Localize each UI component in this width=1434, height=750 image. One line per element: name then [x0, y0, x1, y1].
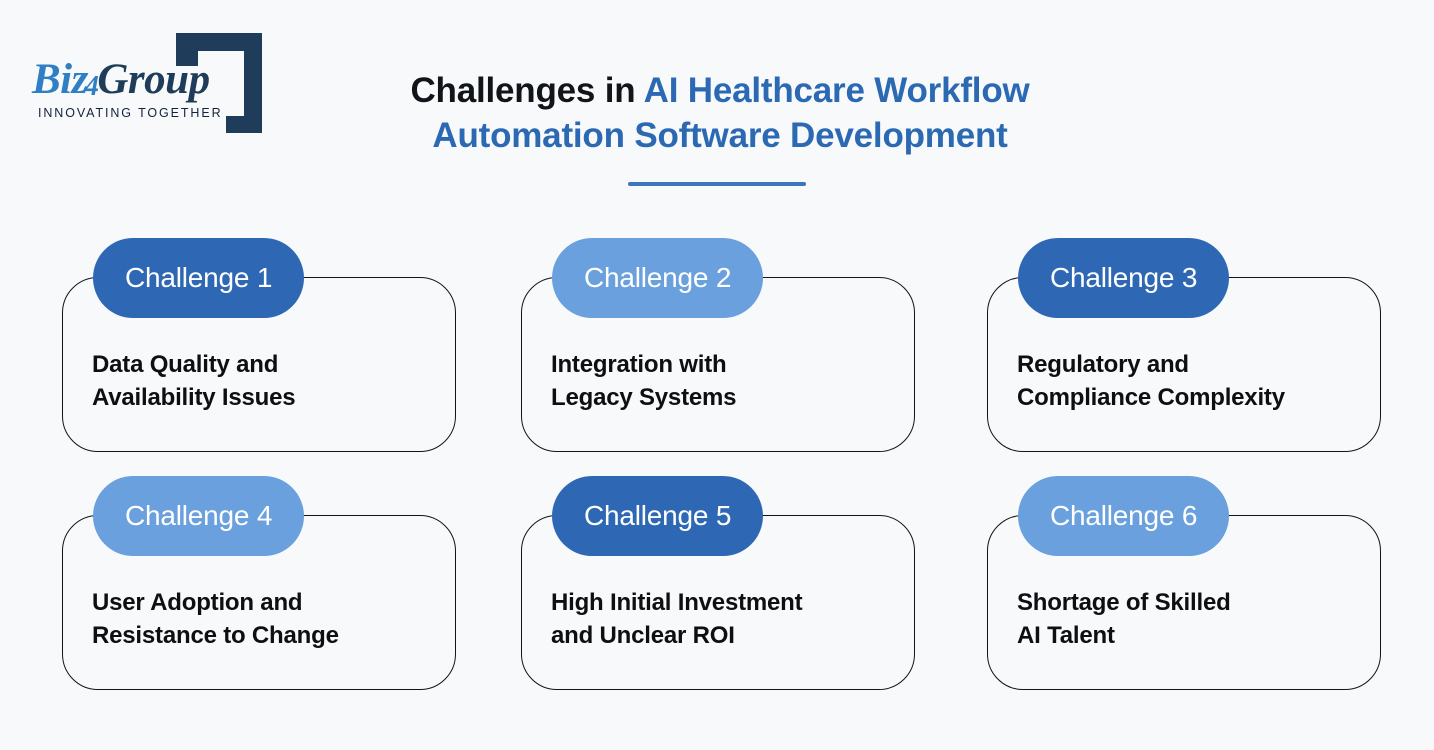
- challenge-badge: Challenge 6: [1018, 476, 1229, 556]
- challenge-card: Challenge 3 Regulatory and Compliance Co…: [987, 277, 1381, 452]
- challenge-description: Regulatory and Compliance Complexity: [1017, 348, 1362, 414]
- challenge-description: Data Quality and Availability Issues: [92, 348, 437, 414]
- logo-wordmark: Biz4Group: [32, 56, 252, 111]
- challenge-badge: Challenge 3: [1018, 238, 1229, 318]
- challenge-badge: Challenge 5: [552, 476, 763, 556]
- logo-word-group: Group: [97, 56, 209, 103]
- title-divider: [628, 182, 806, 186]
- challenge-card: Challenge 1 Data Quality and Availabilit…: [62, 277, 456, 452]
- challenge-card: Challenge 5 High Initial Investment and …: [521, 515, 915, 690]
- challenge-description: High Initial Investment and Unclear ROI: [551, 586, 896, 652]
- challenge-description: Shortage of Skilled AI Talent: [1017, 586, 1362, 652]
- page-title-plain: Challenges in: [410, 71, 643, 110]
- challenge-card-grid: Challenge 1 Data Quality and Availabilit…: [62, 237, 1374, 687]
- page-title-accent-line2: Automation Software Development: [432, 116, 1007, 155]
- challenge-badge: Challenge 2: [552, 238, 763, 318]
- challenge-badge: Challenge 1: [93, 238, 304, 318]
- challenge-badge: Challenge 4: [93, 476, 304, 556]
- page-title: Challenges in AI Healthcare Workflow Aut…: [300, 68, 1140, 158]
- challenge-description: Integration with Legacy Systems: [551, 348, 896, 414]
- logo-tagline: INNOVATING TOGETHER: [38, 106, 223, 120]
- challenge-description: User Adoption and Resistance to Change: [92, 586, 437, 652]
- page-title-accent-line1: AI Healthcare Workflow: [644, 71, 1030, 110]
- challenge-card: Challenge 6 Shortage of Skilled AI Talen…: [987, 515, 1381, 690]
- brand-logo: Biz4Group INNOVATING TOGETHER: [30, 28, 270, 138]
- challenge-card: Challenge 2 Integration with Legacy Syst…: [521, 277, 915, 452]
- logo-word-biz: Biz: [32, 56, 88, 103]
- challenge-card: Challenge 4 User Adoption and Resistance…: [62, 515, 456, 690]
